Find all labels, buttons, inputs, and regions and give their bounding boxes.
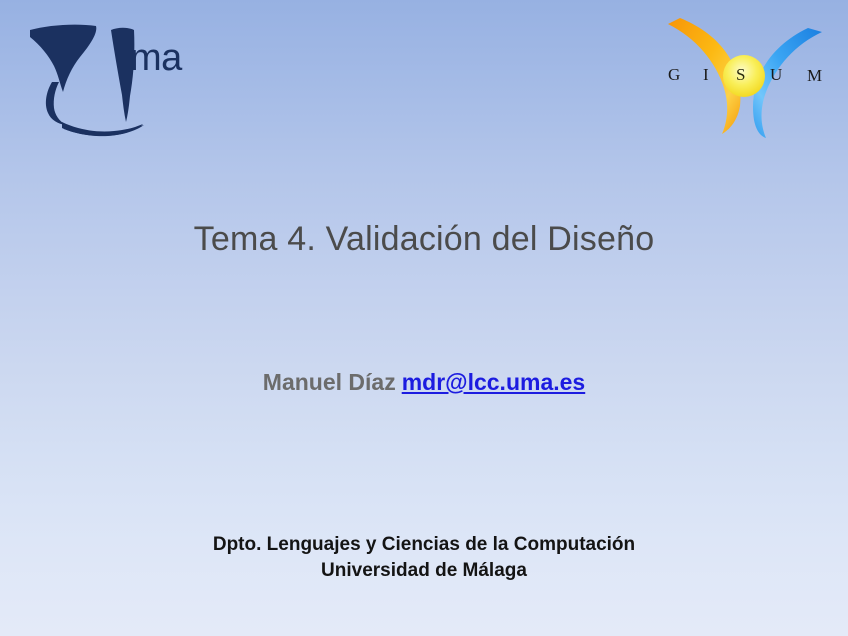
gisum-letter-s: S: [736, 66, 745, 83]
presentation-slide: ma: [0, 0, 848, 636]
gisum-logo: G I S U M: [648, 4, 844, 138]
slide-footer: Dpto. Lenguajes y Ciencias de la Computa…: [0, 532, 848, 584]
author-name: Manuel Díaz: [263, 369, 396, 395]
gisum-letter-g: G: [668, 66, 680, 83]
gisum-letter-u: U: [770, 66, 782, 83]
uma-wordmark: ma: [130, 39, 182, 77]
uma-stroke-base-shadow: [64, 124, 143, 136]
slide-title: Tema 4. Validación del Diseño: [0, 220, 848, 259]
author-email-link[interactable]: mdr@lcc.uma.es: [402, 369, 586, 395]
uma-stroke-wedge: [30, 25, 96, 92]
uma-logo: ma: [18, 12, 198, 142]
gisum-letter-m: M: [807, 67, 822, 84]
footer-university: Universidad de Málaga: [0, 558, 848, 584]
gisum-letter-i: I: [703, 66, 709, 83]
author-line: Manuel Díazmdr@lcc.uma.es: [0, 369, 848, 396]
footer-department: Dpto. Lenguajes y Ciencias de la Computa…: [0, 532, 848, 558]
